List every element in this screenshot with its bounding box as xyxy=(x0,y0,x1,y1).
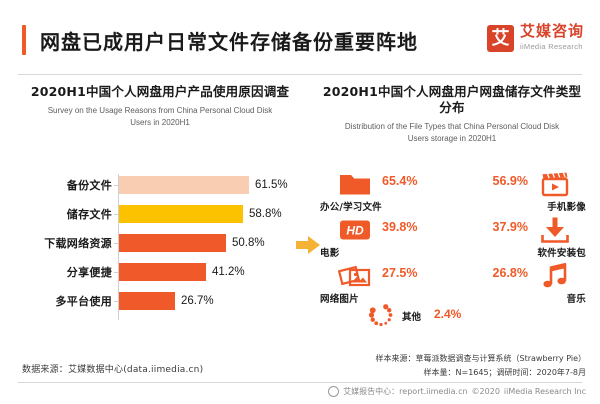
header-divider xyxy=(18,74,582,75)
right-panel-title-cn-line1: 2020H1中国个人网盘用户网盘储存文件类型 xyxy=(308,84,596,100)
bar-category-label: 备份文件 xyxy=(14,174,112,196)
left-panel-title-en: Survey on the Usage Reasons from China P… xyxy=(14,105,306,129)
file-type-percentage: 27.5% xyxy=(382,266,417,280)
file-type-label: 办公/学习文件 xyxy=(320,199,382,213)
file-type-percentage: 65.4% xyxy=(382,174,417,188)
report-center-text: 艾媒报告中心：report.iimedia.cn xyxy=(343,386,467,397)
bar-category-label: 下载网络资源 xyxy=(14,232,112,254)
globe-icon xyxy=(328,386,339,397)
footer-copyright: 艾媒报告中心：report.iimedia.cn ©2020 iiMedia R… xyxy=(328,386,586,397)
file-type-label-other: 其他 xyxy=(402,309,421,323)
file-type-label: 软件安装包 xyxy=(537,245,586,259)
photos-icon xyxy=(338,262,372,290)
file-type-label: 网络图片 xyxy=(320,291,359,305)
bar-row: 多平台使用26.7% xyxy=(14,290,306,312)
logo-mark-icon: 艾 xyxy=(487,25,514,52)
file-type-percentage-other: 2.4% xyxy=(434,307,461,321)
dotted-circle-icon xyxy=(368,302,394,328)
bar-row: 备份文件61.5% xyxy=(14,174,306,196)
page-title: 网盘已成用户日常文件存储备份重要阵地 xyxy=(40,26,418,55)
left-panel-title-cn: 2020H1中国个人网盘用户产品使用原因调查 xyxy=(14,84,306,100)
file-type-cell-other: 其他2.4% xyxy=(368,302,518,330)
left-panel: 2020H1中国个人网盘用户产品使用原因调查 Survey on the Usa… xyxy=(14,84,306,334)
bar-value-label: 58.8% xyxy=(249,203,282,225)
music-note-icon xyxy=(538,262,572,290)
bar-fill xyxy=(119,176,249,194)
svg-text:HD: HD xyxy=(346,224,364,238)
footer-divider xyxy=(18,382,582,383)
right-panel-title-cn-line2: 分布 xyxy=(308,100,596,116)
bar-fill xyxy=(119,292,175,310)
left-panel-title-en-line1: Survey on the Usage Reasons from China P… xyxy=(28,105,292,117)
copyright-year: ©2020 xyxy=(472,387,500,396)
file-type-cell: 65.4%办公/学习文件 xyxy=(320,170,452,216)
bar-category-label: 多平台使用 xyxy=(14,290,112,312)
right-panel-title-en: Distribution of the File Types that Chin… xyxy=(308,121,596,145)
infographic-page: 网盘已成用户日常文件存储备份重要阵地 艾 艾媒咨询 iiMedia Resear… xyxy=(0,0,600,404)
sample-size-text: 样本量：N=1645；调研时间：2020年7-8月 xyxy=(376,366,586,380)
logo-name-cn: 艾媒咨询 xyxy=(520,24,584,39)
logo-text: 艾媒咨询 iiMedia Research xyxy=(520,24,584,52)
logo-name-en: iiMedia Research xyxy=(520,41,584,52)
file-type-percentage: 56.9% xyxy=(493,174,528,188)
bar-row: 储存文件58.8% xyxy=(14,203,306,225)
file-type-cell: HD39.8%电影 xyxy=(320,216,452,262)
brand-logo: 艾 艾媒咨询 iiMedia Research xyxy=(487,24,584,52)
bar-value-label: 26.7% xyxy=(181,290,214,312)
sample-source-text: 样本来源：草莓派数据调查与计算系统（Strawberry Pie） xyxy=(376,352,586,366)
right-panel-title-en-line2: Users storage in 2020H1 xyxy=(322,133,582,145)
file-type-cell: 56.9%手机影像 xyxy=(458,170,590,216)
file-type-percentage: 39.8% xyxy=(382,220,417,234)
bar-category-label: 储存文件 xyxy=(14,203,112,225)
bar-row: 下载网络资源50.8% xyxy=(14,232,306,254)
right-panel-title-en-line1: Distribution of the File Types that Chin… xyxy=(322,121,582,133)
bar-fill xyxy=(119,263,206,281)
bar-fill xyxy=(119,234,226,252)
bar-value-label: 50.8% xyxy=(232,232,265,254)
file-type-percentage: 37.9% xyxy=(493,220,528,234)
file-type-label: 手机影像 xyxy=(547,199,586,213)
sample-note: 样本来源：草莓派数据调查与计算系统（Strawberry Pie） 样本量：N=… xyxy=(376,352,586,380)
header: 网盘已成用户日常文件存储备份重要阵地 艾 艾媒咨询 iiMedia Resear… xyxy=(0,0,600,74)
download-icon xyxy=(538,216,572,244)
bar-category-label: 分享便捷 xyxy=(14,261,112,283)
company-name: iiMedia Research Inc xyxy=(504,387,586,396)
data-source-note: 数据来源：艾媒数据中心(data.iimedia.cn) xyxy=(22,362,203,375)
file-type-percentage: 26.8% xyxy=(493,266,528,280)
clapperboard-icon xyxy=(538,170,572,198)
file-type-cell: 37.9%软件安装包 xyxy=(458,216,590,262)
folder-icon xyxy=(338,170,372,198)
bar-fill xyxy=(119,205,243,223)
left-panel-title-en-line2: Users in 2020H1 xyxy=(28,117,292,129)
usage-reasons-bar-chart: 备份文件61.5%储存文件58.8%下载网络资源50.8%分享便捷41.2%多平… xyxy=(14,172,306,324)
file-type-icon-grid: 65.4%办公/学习文件56.9%手机影像HD39.8%电影37.9%软件安装包… xyxy=(308,170,596,330)
bar-row: 分享便捷41.2% xyxy=(14,261,306,283)
bar-value-label: 61.5% xyxy=(255,174,288,196)
title-accent-bar xyxy=(22,25,26,55)
bar-value-label: 41.2% xyxy=(212,261,245,283)
file-type-label: 音乐 xyxy=(567,291,586,305)
right-panel: 2020H1中国个人网盘用户网盘储存文件类型 分布 Distribution o… xyxy=(308,84,596,334)
file-type-label: 电影 xyxy=(320,245,339,259)
hd-badge-icon: HD xyxy=(338,216,372,244)
